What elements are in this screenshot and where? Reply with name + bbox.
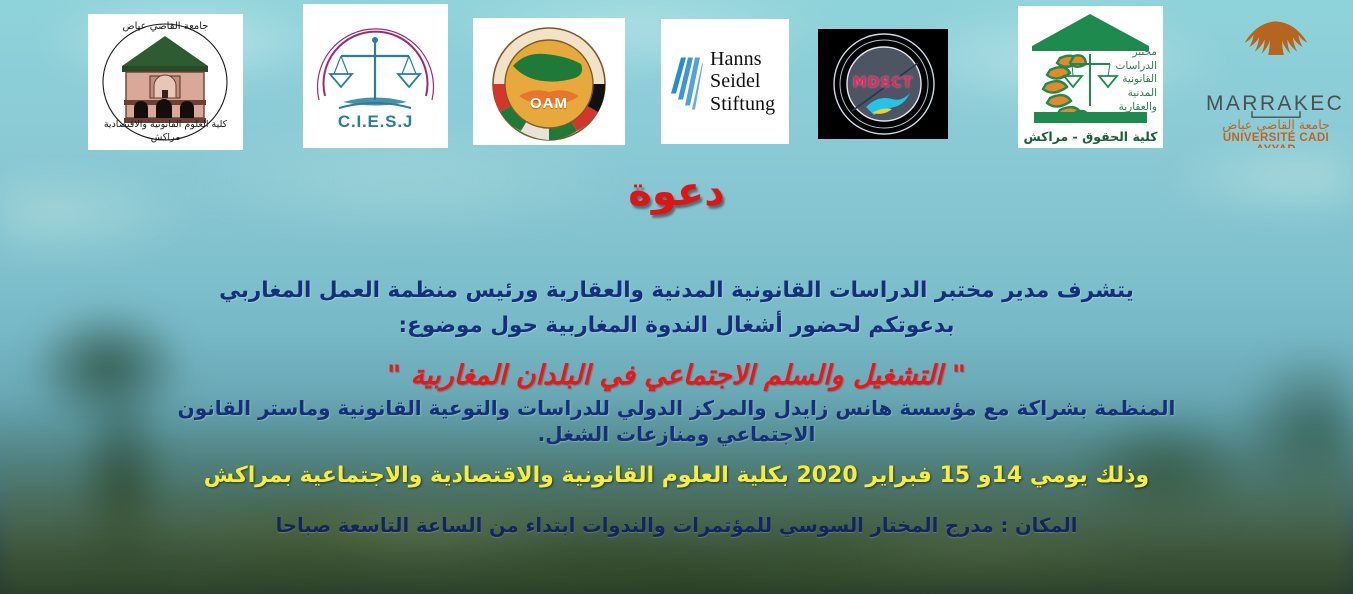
poster-seminar-title: " التشغيل والسلم الاجتماعي في البلدان ال… <box>0 360 1353 391</box>
logo-ciesj: C.I.E.S.J <box>303 4 448 148</box>
lab-line1: مختبر <box>1076 46 1157 60</box>
fsjes-bottom-arc-line1: كلية العلوم القانونية والاقتصادية <box>88 119 243 131</box>
lab-name-lines: مختبر الدراسات القانونية المدنية والعقار… <box>1076 46 1157 115</box>
logo-fsjes-marrakech: جامعة القاضي عياض <box>88 14 243 150</box>
hss-wordmark: Hanns Seidel Stiftung <box>710 48 775 115</box>
hss-stripes-icon <box>669 19 703 144</box>
poster-intro-paragraph: يتشرف مدير مختبر الدراسات القانونية المد… <box>0 276 1353 340</box>
poster-organizers-line2: الاجتماعي ومنازعات الشغل. <box>28 422 1325 448</box>
lab-line4: المدنية <box>1076 87 1157 101</box>
logo-laboratoire-etudes-juridiques: مختبر الدراسات القانونية المدنية والعقار… <box>1018 6 1163 148</box>
uca-name-french: UNIVERSITÉ CADI AYYAD <box>1206 132 1346 148</box>
poster-organizers-line1: المنظمة بشراكة مع مؤسسة هانس زايدل والمر… <box>28 396 1325 422</box>
lab-line2: الدراسات <box>1076 60 1157 74</box>
ciesj-acronym-label: C.I.E.S.J <box>303 112 448 132</box>
poster-intro-line2: بدعوتكم لحضور أشغال الندوة المغاربية حول… <box>110 311 1243 340</box>
logo-oam: OAM <box>473 18 625 145</box>
logo-mdsct: MDSCT <box>818 29 948 139</box>
poster-venue-line: المكان : مدرج المختار السوسي للمؤتمرات و… <box>0 514 1353 537</box>
mdsct-acronym-label: MDSCT <box>818 75 948 91</box>
hss-line1: Hanns <box>710 48 775 70</box>
hss-line3: Stiftung <box>710 93 775 115</box>
lab-line5: والعقارية <box>1076 101 1157 115</box>
poster-intro-line1: يتشرف مدير مختبر الدراسات القانونية المد… <box>110 276 1243 305</box>
fsjes-bottom-arc-label: كلية العلوم القانونية والاقتصادية مراكش <box>88 119 243 144</box>
poster-date-line: وذلك يومي 14و 15 فبراير 2020 بكلية العلو… <box>0 463 1353 488</box>
logo-universite-cadi-ayyad: MARRAKECH جامعة القاضي عياض UNIVERSITÉ C… <box>1206 18 1346 148</box>
oam-emblem-icon <box>473 18 625 145</box>
uca-palm-fan-icon <box>1206 18 1346 91</box>
event-poster: جامعة القاضي عياض <box>0 0 1353 594</box>
uca-name-arabic: جامعة القاضي عياض <box>1206 117 1346 132</box>
fsjes-bottom-arc-line2: مراكش <box>88 132 243 144</box>
poster-organizers-paragraph: المنظمة بشراكة مع مؤسسة هانس زايدل والمر… <box>0 396 1353 447</box>
lab-footer-label: كلية الحقوق - مراكش <box>1018 129 1163 144</box>
logo-strip: جامعة القاضي عياض <box>0 0 1353 156</box>
lab-line3: القانونية <box>1076 73 1157 87</box>
poster-headline: دعوة <box>0 170 1353 214</box>
hss-line2: Seidel <box>710 70 775 92</box>
fsjes-top-arc-label: جامعة القاضي عياض <box>88 21 243 32</box>
poster-content: دعوة يتشرف مدير مختبر الدراسات القانونية… <box>0 156 1353 594</box>
oam-acronym-label: OAM <box>473 95 625 112</box>
logo-hanns-seidel-stiftung: Hanns Seidel Stiftung <box>661 19 789 144</box>
